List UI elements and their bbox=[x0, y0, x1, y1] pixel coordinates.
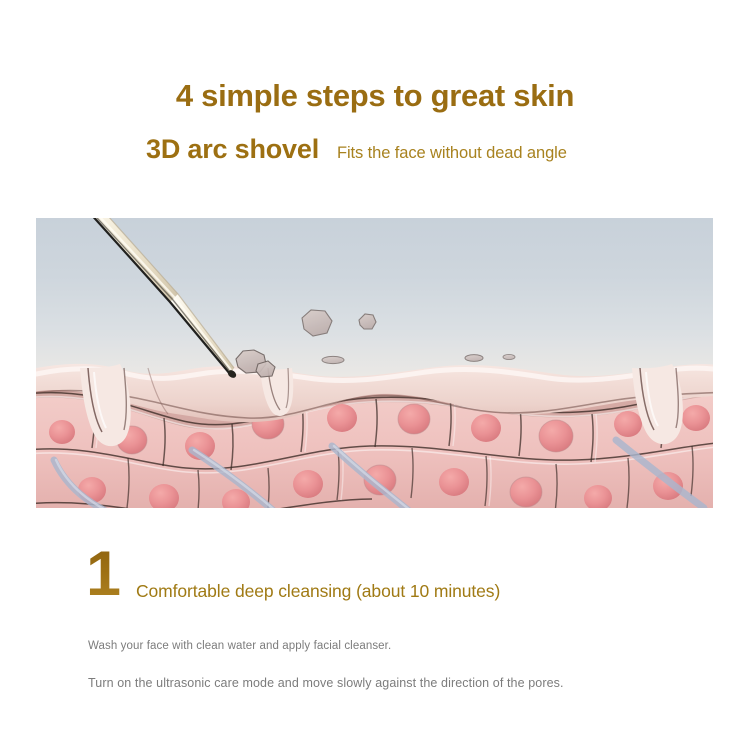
skin-cross-section-illustration bbox=[36, 218, 713, 508]
feature-heading: 3D arc shovel bbox=[146, 134, 319, 165]
subtitle-row: 3D arc shovel Fits the face without dead… bbox=[146, 134, 567, 165]
page-title: 4 simple steps to great skin bbox=[0, 78, 750, 114]
step-instruction-line-1: Wash your face with clean water and appl… bbox=[88, 640, 391, 652]
step-caption: Comfortable deep cleansing (about 10 min… bbox=[136, 581, 500, 602]
product-detail-page: 4 simple steps to great skin 3D arc shov… bbox=[0, 0, 750, 738]
step-number: 1 bbox=[86, 543, 120, 606]
step-instruction-line-2: Turn on the ultrasonic care mode and mov… bbox=[88, 676, 564, 690]
skin-diagram-svg bbox=[36, 218, 713, 508]
feature-tagline: Fits the face without dead angle bbox=[337, 144, 567, 163]
